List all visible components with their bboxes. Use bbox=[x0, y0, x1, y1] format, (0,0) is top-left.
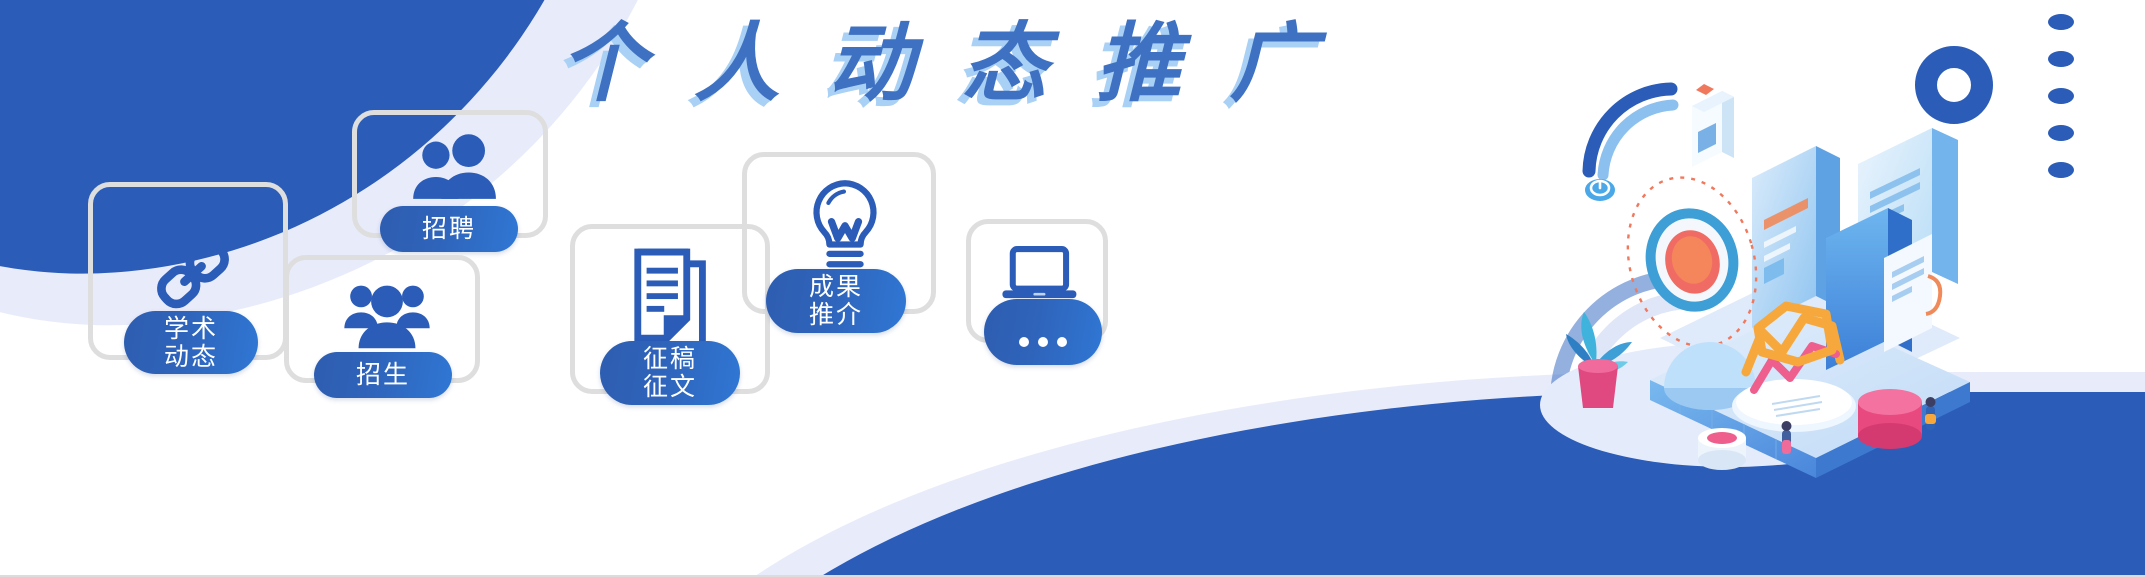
decor-dot-1 bbox=[2048, 14, 2074, 30]
laptop-icon bbox=[997, 242, 1087, 306]
dot-3 bbox=[1057, 337, 1067, 347]
page-title: 个 人 动 态 推 广 bbox=[560, 8, 1320, 120]
pill-more[interactable] bbox=[984, 299, 1102, 365]
decor-dot-5 bbox=[2048, 162, 2074, 178]
pill-recruit[interactable]: 招聘 bbox=[380, 206, 518, 252]
two-people-icon bbox=[405, 133, 505, 201]
group-icon bbox=[341, 278, 433, 350]
decorative-dot-column bbox=[2048, 14, 2074, 178]
dot-1 bbox=[1019, 337, 1029, 347]
promo-banner: 个 人 动 态 推 广 学术 动态 bbox=[0, 0, 2145, 577]
decor-dot-2 bbox=[2048, 51, 2074, 67]
pill-admission[interactable]: 招生 bbox=[314, 352, 452, 398]
dot-2 bbox=[1038, 337, 1048, 347]
ring-icon bbox=[1915, 46, 1993, 124]
pill-papers[interactable]: 征稿 征文 bbox=[600, 341, 740, 405]
isometric-workspace-illustration bbox=[1540, 60, 2040, 480]
title-container: 个 人 动 态 推 广 bbox=[560, 8, 1320, 120]
pill-results[interactable]: 成果 推介 bbox=[766, 269, 906, 333]
pill-academic[interactable]: 学术 动态 bbox=[124, 311, 258, 374]
decor-dot-3 bbox=[2048, 88, 2074, 104]
decor-dot-4 bbox=[2048, 125, 2074, 141]
